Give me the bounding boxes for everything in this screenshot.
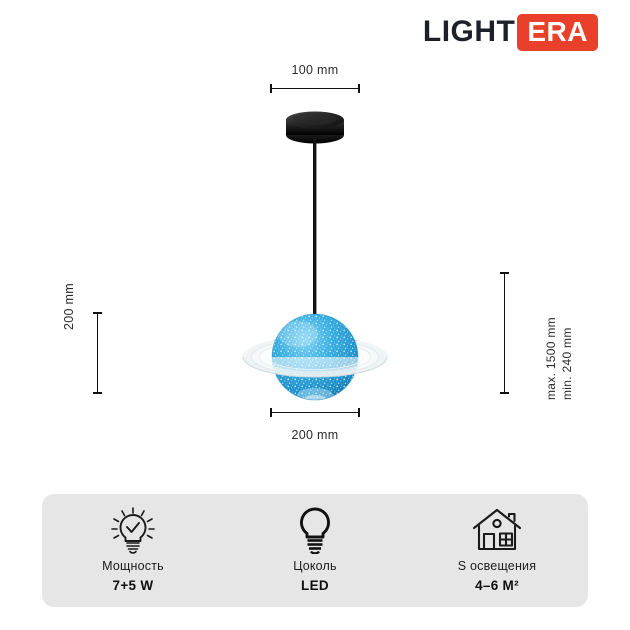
spec-value: 4–6 M² [475,578,519,593]
spec-item-power: Мощность 7+5 W [42,494,224,593]
specification-panel: Мощность 7+5 W Цоколь LED [42,494,588,607]
spec-value: LED [301,578,329,593]
house-icon [471,506,523,554]
spec-title: Мощность [102,559,164,573]
spec-item-socket: Цоколь LED [224,494,406,593]
spec-title: Цоколь [293,559,337,573]
product-illustration [0,0,630,470]
bulb-check-rays-icon [108,506,158,554]
spec-title: S освещения [458,559,536,573]
spec-value: 7+5 W [113,578,154,593]
bulb-icon [293,506,337,554]
suspension-cord [313,135,316,332]
spec-item-area: S освещения 4–6 M² [406,494,588,593]
